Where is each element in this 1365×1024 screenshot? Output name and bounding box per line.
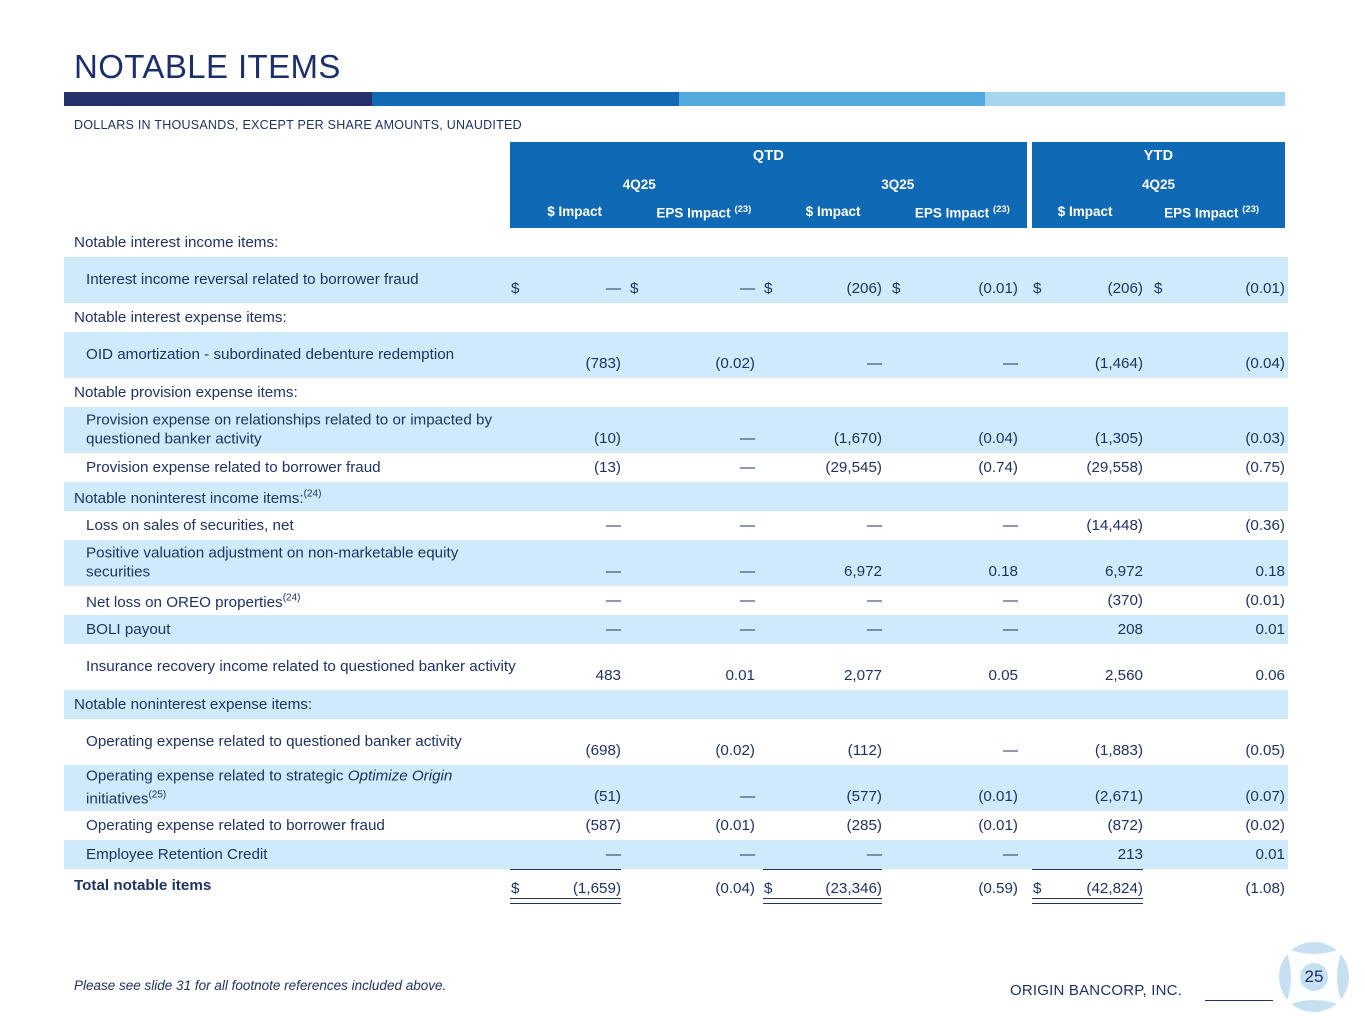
- accent-bar: [64, 92, 1285, 106]
- table-cell-value: (1.08): [1135, 880, 1285, 897]
- company-name: ORIGIN BANCORP, INC.: [1010, 982, 1182, 999]
- table-cell-value: 0.01: [1135, 846, 1285, 863]
- table-cell-value: —: [471, 592, 621, 609]
- row-label: Notable provision expense items:: [74, 383, 504, 402]
- table-row: Positive valuation adjustment on non-mar…: [64, 540, 1288, 586]
- table-cell-value: (0.02): [1135, 817, 1285, 834]
- header-col-dollar-ytd: $ Impact: [1032, 204, 1138, 219]
- header-col-dollar-4q25-qtd: $ Impact: [510, 204, 639, 219]
- table-row: OID amortization - subordinated debentur…: [64, 332, 1288, 378]
- table-row: Provision expense related to borrower fr…: [64, 453, 1288, 482]
- table-cell-value: (42,824): [993, 880, 1143, 897]
- table-cell-value: —: [471, 563, 621, 580]
- page-title: NOTABLE ITEMS: [74, 48, 341, 86]
- table-cell-value: 6,972: [993, 563, 1143, 580]
- table-total-row: Total notable items$(1,659)(0.04)$(23,34…: [64, 869, 1288, 903]
- table-cell-value: 0.01: [1135, 621, 1285, 638]
- table-cell-value: (285): [732, 817, 882, 834]
- table-cell-value: (1,659): [471, 880, 621, 897]
- row-label: Notable interest income items:: [74, 233, 504, 252]
- table-cell-value: —: [471, 517, 621, 534]
- header-col-dollar-3q25-qtd: $ Impact: [769, 204, 898, 219]
- footnote-reference: Please see slide 31 for all footnote ref…: [74, 978, 446, 993]
- header-col-eps-ytd: EPS Impact (23): [1138, 204, 1285, 221]
- table-cell-value: (10): [471, 430, 621, 447]
- row-label: Insurance recovery income related to que…: [86, 658, 516, 677]
- brand-rule: [1205, 1000, 1273, 1001]
- row-label: Operating expense related to borrower fr…: [86, 816, 516, 835]
- row-label: OID amortization - subordinated debentur…: [86, 346, 516, 365]
- table-cell-value: 483: [471, 667, 621, 684]
- table-cell-value: (1,670): [732, 430, 882, 447]
- table-row: Operating expense related to strategic O…: [64, 765, 1288, 811]
- table-cell-value: (14,448): [993, 517, 1143, 534]
- header-qtd-period-2: 3Q25: [769, 177, 1028, 192]
- footnote-marker: (24): [283, 592, 301, 603]
- row-label: Notable noninterest income items:(24): [74, 485, 504, 508]
- header-col-eps-3q25-qtd: EPS Impact (23): [898, 204, 1027, 221]
- table-cell-value: (577): [732, 788, 882, 805]
- table-row: Operating expense related to questioned …: [64, 719, 1288, 765]
- table-cell-value: (698): [471, 742, 621, 759]
- table-cell-value: (1,305): [993, 430, 1143, 447]
- table-body: Notable interest income items:Interest i…: [64, 228, 1288, 903]
- notable-items-table: QTD 4Q25 3Q25 $ Impact EPS Impact (23) $…: [64, 142, 1288, 903]
- table-group-row: Notable interest income items:: [64, 228, 1288, 257]
- total-double-rule: [763, 898, 882, 904]
- header-ytd-label: YTD: [1032, 148, 1285, 164]
- table-cell-value: (587): [471, 817, 621, 834]
- header-ytd-period: 4Q25: [1032, 177, 1285, 192]
- table-cell-value: 2,077: [732, 667, 882, 684]
- row-label: Positive valuation adjustment on non-mar…: [86, 545, 516, 582]
- table-group-row: Notable provision expense items:: [64, 378, 1288, 407]
- table-cell-value: (112): [732, 742, 882, 759]
- row-label: Provision expense on relationships relat…: [86, 412, 516, 449]
- table-group-row: Notable interest expense items:: [64, 303, 1288, 332]
- table-cell-value: 0.06: [1135, 667, 1285, 684]
- table-cell-value: (0.03): [1135, 430, 1285, 447]
- slide-root: NOTABLE ITEMS DOLLARS IN THOUSANDS, EXCE…: [0, 0, 1365, 1024]
- total-double-rule: [510, 898, 621, 904]
- row-label: Notable noninterest expense items:: [74, 695, 504, 714]
- total-double-rule: [1032, 898, 1143, 904]
- table-row: Insurance recovery income related to que…: [64, 644, 1288, 690]
- table-cell-value: —: [732, 517, 882, 534]
- table-cell-value: (1,883): [993, 742, 1143, 759]
- units-subtitle: DOLLARS IN THOUSANDS, EXCEPT PER SHARE A…: [74, 118, 522, 132]
- table-row: Interest income reversal related to borr…: [64, 257, 1288, 303]
- accent-segment-2: [372, 92, 680, 106]
- table-cell-value: (51): [471, 788, 621, 805]
- page-number: 25: [1279, 942, 1349, 1012]
- table-cell-value: —: [732, 846, 882, 863]
- table-cell-value: 0.18: [1135, 563, 1285, 580]
- table-cell-value: —: [471, 621, 621, 638]
- row-label: Interest income reversal related to borr…: [86, 271, 516, 290]
- table-cell-value: (23,346): [732, 880, 882, 897]
- table-group-row: Notable noninterest income items:(24): [64, 482, 1288, 511]
- table-cell-value: —: [732, 621, 882, 638]
- table-cell-value: —: [471, 846, 621, 863]
- table-cell-value: —: [471, 280, 621, 297]
- table-cell-value: —: [732, 592, 882, 609]
- row-label: Employee Retention Credit: [86, 845, 516, 864]
- table-cell-value: (0.01): [1135, 592, 1285, 609]
- table-cell-value: (0.01): [1135, 280, 1285, 297]
- table-cell-value: (2,671): [993, 788, 1143, 805]
- table-cell-value: 208: [993, 621, 1143, 638]
- row-label: Loss on sales of securities, net: [86, 516, 516, 535]
- table-cell-value: —: [732, 355, 882, 372]
- table-row: Loss on sales of securities, net————(14,…: [64, 511, 1288, 540]
- table-row: BOLI payout————2080.01: [64, 615, 1288, 644]
- table-cell-value: (0.07): [1135, 788, 1285, 805]
- table-cell-value: (783): [471, 355, 621, 372]
- row-label: Total notable items: [74, 877, 504, 896]
- table-cell-value: (0.04): [1135, 355, 1285, 372]
- row-label: Net loss on OREO properties(24): [86, 589, 516, 612]
- accent-segment-1: [64, 92, 372, 106]
- row-label: BOLI payout: [86, 620, 516, 639]
- table-cell-value: (206): [993, 280, 1143, 297]
- table-cell-value: (206): [732, 280, 882, 297]
- table-cell-value: 6,972: [732, 563, 882, 580]
- row-label: Provision expense related to borrower fr…: [86, 458, 516, 477]
- table-header: QTD 4Q25 3Q25 $ Impact EPS Impact (23) $…: [64, 142, 1288, 228]
- table-cell-value: (0.75): [1135, 459, 1285, 476]
- row-label: Operating expense related to questioned …: [86, 733, 516, 752]
- table-cell-value: (370): [993, 592, 1143, 609]
- table-cell-value: (872): [993, 817, 1143, 834]
- accent-segment-4: [985, 92, 1285, 106]
- subtotal-rule: [763, 869, 882, 870]
- header-qtd-label: QTD: [510, 148, 1027, 164]
- table-group-row: Notable noninterest expense items:: [64, 690, 1288, 719]
- header-group-ytd: YTD 4Q25 $ Impact EPS Impact (23): [1032, 142, 1285, 228]
- subtotal-rule: [1032, 869, 1143, 870]
- table-row: Net loss on OREO properties(24)————(370)…: [64, 586, 1288, 615]
- table-cell-value: 2,560: [993, 667, 1143, 684]
- table-cell-value: 213: [993, 846, 1143, 863]
- table-cell-value: (1,464): [993, 355, 1143, 372]
- footnote-marker: (25): [148, 789, 166, 800]
- table-cell-value: (0.36): [1135, 517, 1285, 534]
- header-group-qtd: QTD 4Q25 3Q25 $ Impact EPS Impact (23) $…: [510, 142, 1027, 228]
- table-cell-value: (13): [471, 459, 621, 476]
- row-label: Notable interest expense items:: [74, 308, 504, 327]
- accent-segment-3: [679, 92, 984, 106]
- footnote-marker: (24): [304, 488, 322, 499]
- subtotal-rule: [510, 869, 621, 870]
- header-col-eps-4q25-qtd: EPS Impact (23): [639, 204, 768, 221]
- table-row: Provision expense on relationships relat…: [64, 407, 1288, 453]
- table-row: Operating expense related to borrower fr…: [64, 811, 1288, 840]
- table-row: Employee Retention Credit————2130.01: [64, 840, 1288, 869]
- table-cell-value: (29,558): [993, 459, 1143, 476]
- table-cell-value: (0.05): [1135, 742, 1285, 759]
- row-label: Operating expense related to strategic O…: [86, 767, 516, 808]
- header-qtd-period-1: 4Q25: [510, 177, 769, 192]
- table-cell-value: (29,545): [732, 459, 882, 476]
